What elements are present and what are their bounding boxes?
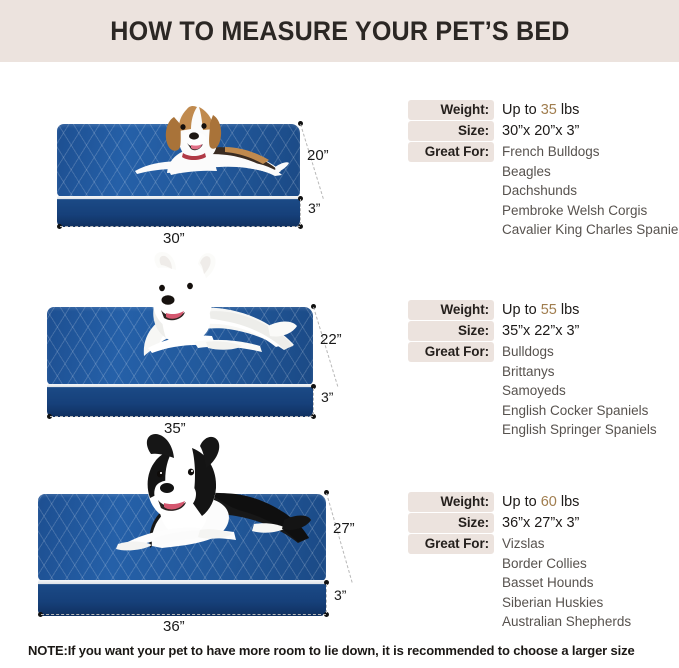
breed-item: English Cocker Spaniels — [502, 401, 657, 421]
page-title: HOW TO MEASURE YOUR PET’S BED — [110, 16, 569, 47]
breed-item: Cavalier King Charles Spaniels — [502, 220, 679, 240]
spec-row-weight: Weight: Up to 60 lbs — [408, 492, 679, 512]
breed-item: Siberian Huskies — [502, 593, 631, 613]
dim-line-width — [60, 226, 300, 227]
spec-row-size: Size: 36”x 27”x 3” — [408, 513, 679, 533]
spec-row-great-for: Great For: Vizslas Border Collies Basset… — [408, 534, 679, 632]
spec-row-size: Size: 30”x 20”x 3” — [408, 121, 679, 141]
dog-samoyed — [108, 248, 298, 368]
size-section-large: 27” 3” 36” Weight: Up to 60 lbs Size: 36… — [0, 432, 679, 622]
weight-number: 60 — [541, 494, 557, 510]
weight-label: Weight: — [408, 492, 494, 512]
weight-prefix: Up to — [502, 102, 541, 118]
dim-line-height — [326, 584, 327, 613]
size-label: Size: — [408, 121, 494, 141]
breed-item: Australian Shepherds — [502, 612, 631, 632]
breed-list: French Bulldogs Beagles Dachshunds Pembr… — [494, 142, 679, 240]
size-value: 36”x 27”x 3” — [494, 513, 579, 533]
breed-list: Bulldogs Brittanys Samoyeds English Cock… — [494, 342, 657, 440]
weight-suffix: lbs — [557, 302, 580, 318]
dim-label-height: 3” — [308, 200, 320, 216]
dim-line-width — [41, 614, 326, 615]
dog-beagle — [125, 97, 290, 182]
spec-row-great-for: Great For: French Bulldogs Beagles Dachs… — [408, 142, 679, 240]
weight-number: 55 — [541, 302, 557, 318]
footer-note: NOTE:If you want your pet to have more r… — [28, 643, 635, 658]
size-label: Size: — [408, 321, 494, 341]
weight-prefix: Up to — [502, 302, 541, 318]
spec-row-great-for: Great For: Bulldogs Brittanys Samoyeds E… — [408, 342, 679, 440]
spec-panel-medium: Weight: Up to 55 lbs Size: 35”x 22”x 3” … — [408, 300, 679, 441]
weight-prefix: Up to — [502, 494, 541, 510]
breed-item: Bulldogs — [502, 342, 657, 362]
breed-item: Vizslas — [502, 534, 631, 554]
bed-illustration-small: 20” 3” 30” — [0, 72, 405, 242]
size-section-small: 20” 3” 30” Weight: Up to 35 lbs Size: 30… — [0, 72, 679, 242]
breed-item: Brittanys — [502, 362, 657, 382]
bed-side-panel — [38, 584, 326, 616]
breed-item: Samoyeds — [502, 381, 657, 401]
size-value: 30”x 20”x 3” — [494, 121, 579, 141]
weight-value: Up to 60 lbs — [494, 492, 579, 512]
great-for-label: Great For: — [408, 142, 494, 162]
size-value: 35”x 22”x 3” — [494, 321, 579, 341]
dim-label-depth: 20” — [307, 147, 329, 164]
spec-panel-large: Weight: Up to 60 lbs Size: 36”x 27”x 3” … — [408, 492, 679, 633]
weight-label: Weight: — [408, 300, 494, 320]
size-section-medium: 22” 3” 35” Weight: Up to 55 lbs Size: 35… — [0, 250, 679, 435]
dog-border-collie — [96, 428, 311, 563]
dim-line-depth — [326, 493, 353, 583]
dim-label-depth: 22” — [320, 331, 342, 348]
weight-suffix: lbs — [557, 494, 580, 510]
size-label: Size: — [408, 513, 494, 533]
breed-item: French Bulldogs — [502, 142, 679, 162]
dim-line-height — [313, 388, 314, 415]
spec-row-size: Size: 35”x 22”x 3” — [408, 321, 679, 341]
dim-line-width — [50, 416, 313, 417]
weight-value: Up to 35 lbs — [494, 100, 579, 120]
dim-label-width: 30” — [163, 230, 185, 247]
weight-number: 35 — [541, 102, 557, 118]
breed-list: Vizslas Border Collies Basset Hounds Sib… — [494, 534, 631, 632]
breed-item: Beagles — [502, 162, 679, 182]
bed-illustration-medium: 22” 3” 35” — [0, 250, 405, 435]
dim-label-depth: 27” — [333, 520, 355, 537]
dim-label-width: 36” — [163, 618, 185, 635]
dim-label-height: 3” — [321, 389, 333, 405]
weight-label: Weight: — [408, 100, 494, 120]
spec-panel-small: Weight: Up to 35 lbs Size: 30”x 20”x 3” … — [408, 100, 679, 241]
great-for-label: Great For: — [408, 342, 494, 362]
breed-item: Dachshunds — [502, 181, 679, 201]
spec-row-weight: Weight: Up to 55 lbs — [408, 300, 679, 320]
bed-side-panel — [57, 199, 300, 227]
dim-label-height: 3” — [334, 587, 346, 603]
breed-item: Pembroke Welsh Corgis — [502, 201, 679, 221]
weight-suffix: lbs — [557, 102, 580, 118]
breed-item: Border Collies — [502, 554, 631, 574]
weight-value: Up to 55 lbs — [494, 300, 579, 320]
great-for-label: Great For: — [408, 534, 494, 554]
bed-illustration-large: 27” 3” 36” — [0, 432, 405, 622]
spec-row-weight: Weight: Up to 35 lbs — [408, 100, 679, 120]
page-header: HOW TO MEASURE YOUR PET’S BED — [0, 0, 679, 62]
dim-line-height — [300, 199, 301, 225]
breed-item: Basset Hounds — [502, 573, 631, 593]
bed-side-panel — [47, 387, 313, 417]
